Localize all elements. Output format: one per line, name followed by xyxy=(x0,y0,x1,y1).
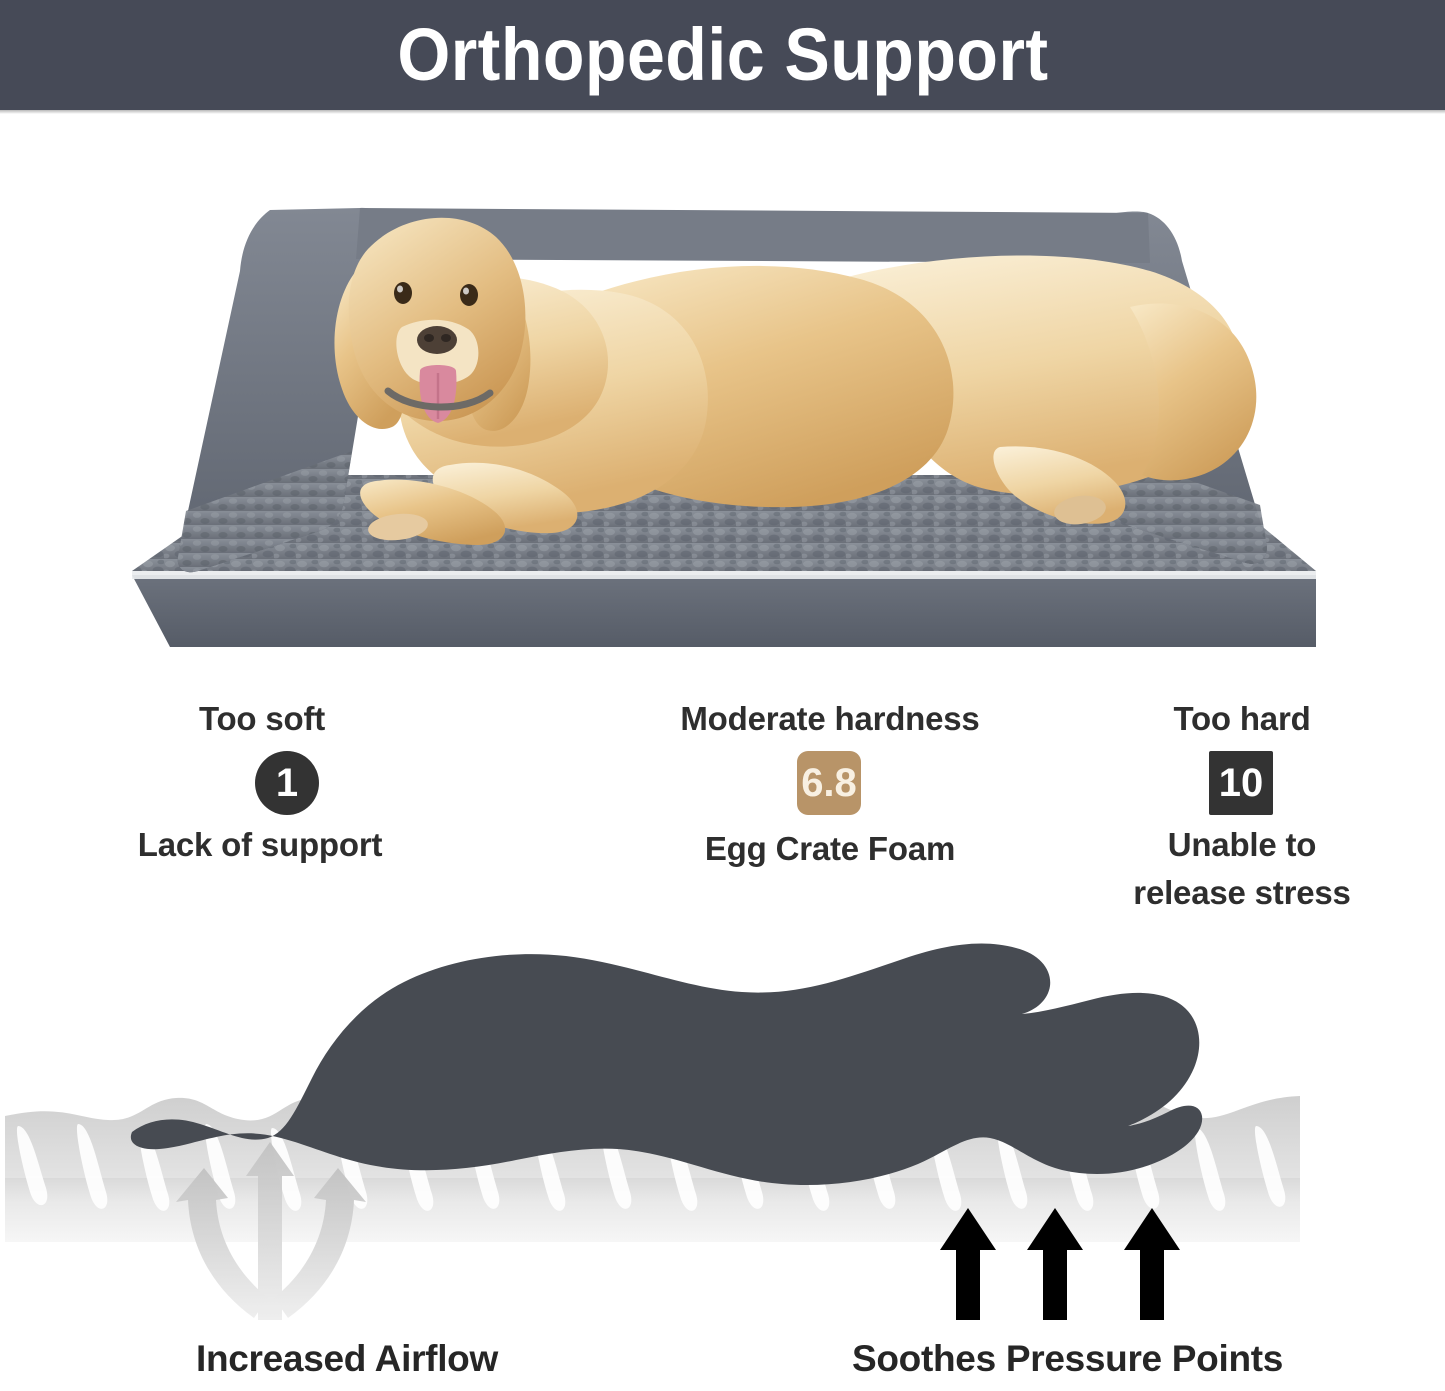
scale-sublabel-egg-crate-foam: Egg Crate Foam xyxy=(640,831,1020,867)
product-photo xyxy=(120,175,1330,675)
scale-point-moderate: Moderate hardness 6.8 Egg Crate Foam xyxy=(640,700,1020,867)
scale-sublabel-unable-to-release-stress-line1: Unable to xyxy=(1072,827,1412,863)
cross-section-illustration xyxy=(0,920,1445,1320)
scale-badge-1: 1 xyxy=(255,751,319,815)
scale-heading-too-hard: Too hard xyxy=(1072,700,1412,738)
dog-nose xyxy=(417,326,457,354)
bed-base-front xyxy=(132,575,1316,647)
bed-piping xyxy=(132,571,1316,579)
scale-badge-10: 10 xyxy=(1209,751,1273,815)
scale-badge-6-8: 6.8 xyxy=(797,751,861,815)
scale-point-too-soft: Too soft 1 Lack of support xyxy=(100,700,420,863)
scale-sublabel-lack-of-support: Lack of support xyxy=(100,827,420,863)
scale-sublabel-unable-to-release-stress-line2: release stress xyxy=(1072,875,1412,911)
infographic-page: Orthopedic Support xyxy=(0,0,1445,1391)
dog-eye-right xyxy=(460,284,478,306)
page-title: Orthopedic Support xyxy=(397,18,1048,92)
scale-heading-too-soft: Too soft xyxy=(104,700,420,738)
pressure-arrows xyxy=(940,1208,1180,1320)
cross-section-diagram xyxy=(0,920,1445,1320)
airflow-arrows xyxy=(176,1142,366,1320)
product-photo-illustration xyxy=(120,175,1330,675)
caption-increased-airflow: Increased Airflow xyxy=(196,1338,498,1380)
header-shadow xyxy=(0,110,1445,114)
caption-soothes-pressure-points: Soothes Pressure Points xyxy=(852,1338,1283,1380)
scale-point-too-hard: Too hard 10 Unable to release stress xyxy=(1072,700,1412,910)
dog-eye-left xyxy=(394,282,412,304)
header-bar: Orthopedic Support xyxy=(0,0,1445,110)
dog-golden-retriever xyxy=(334,218,1256,545)
hardness-scale: Too soft 1 Lack of support Moderate hard… xyxy=(0,700,1445,900)
scale-heading-moderate-hardness: Moderate hardness xyxy=(640,700,1020,738)
